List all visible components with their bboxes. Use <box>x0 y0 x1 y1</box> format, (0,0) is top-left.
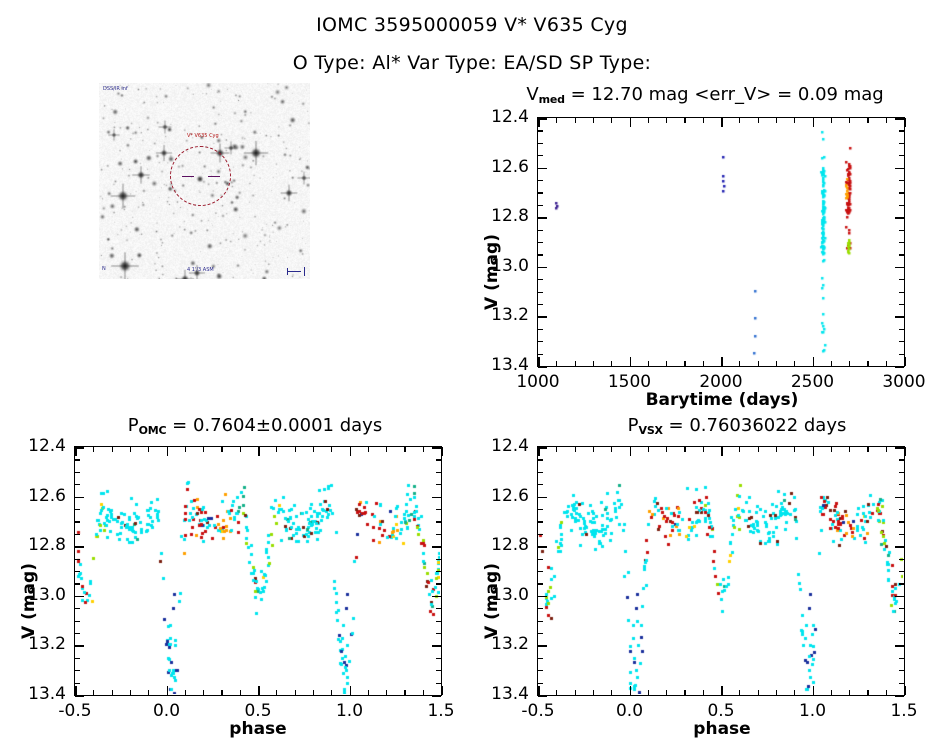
phase-vsx-ytick-right-0 <box>895 447 904 449</box>
phase-omc-xtick-major-1 <box>167 686 169 695</box>
timeseries-ytick-minor <box>538 230 543 231</box>
timeseries-xtick-top-3 <box>813 118 815 127</box>
phase-vsx-xlabel-3: 1.0 <box>768 701 858 721</box>
timeseries-ytick-right-2 <box>895 217 904 219</box>
phase-omc-ytick-minor <box>75 608 80 609</box>
phase-vsx-ytick-minor-right <box>899 608 904 609</box>
phase-vsx-xtick-minor <box>648 690 649 695</box>
phase-vsx-ytick-minor <box>538 670 543 671</box>
timeseries-xtick-major-0 <box>538 357 540 366</box>
timeseries-xtick-minor-top <box>776 118 777 123</box>
phase-vsx-ylabel-5: 13.4 <box>469 684 529 704</box>
phase-omc-ytick-minor-right <box>436 633 441 634</box>
phase-omc-xlabel-0: -0.5 <box>30 701 120 721</box>
phase-omc-xtick-minor-top <box>404 447 405 452</box>
phase-vsx-xtick-minor-top <box>593 447 594 452</box>
timeseries-xtick-minor <box>776 361 777 366</box>
timeseries-ytick-minor <box>538 254 543 255</box>
phase-vsx-ytick-right-2 <box>895 546 904 548</box>
phase-omc-xtick-minor <box>112 690 113 695</box>
phase-vsx-ytick-major-3 <box>538 596 547 598</box>
phase-omc-ylabel-0: 12.4 <box>6 436 66 456</box>
phase-omc-title-rest: = 0.7604±0.0001 days <box>166 415 382 436</box>
phase-vsx-xtick-minor-top <box>739 447 740 452</box>
phase-omc-xtick-minor-top <box>185 447 186 452</box>
timeseries-xtick-minor <box>593 361 594 366</box>
phase-omc-xtick-minor-top <box>93 447 94 452</box>
finder-survey-label: DSS/IR inf <box>103 86 128 92</box>
phase-vsx-xtick-minor <box>666 690 667 695</box>
phase-vsx-xtick-minor-top <box>684 447 685 452</box>
phase-omc-xtick-minor-top <box>331 447 332 452</box>
phase-omc-ylabel-4: 13.2 <box>6 634 66 654</box>
phase-omc-xtick-minor <box>423 690 424 695</box>
phase-vsx-xaxis-title: phase <box>597 719 847 739</box>
phase-omc-xtick-major-3 <box>350 686 352 695</box>
phase-vsx-xtick-minor <box>703 690 704 695</box>
timeseries-ytick-minor-right <box>899 130 904 131</box>
phase-vsx-ylabel-1: 12.6 <box>469 486 529 506</box>
phase-omc-ytick-minor-right <box>436 658 441 659</box>
timeseries-xtick-minor <box>849 361 850 366</box>
timeseries-xtick-minor-top <box>794 118 795 123</box>
timeseries-xtick-minor-top <box>666 118 667 123</box>
phase-vsx-ytick-minor <box>538 633 543 634</box>
timeseries-xtick-minor-top <box>684 118 685 123</box>
phase-omc-title-subscript: OMC <box>139 424 167 437</box>
timeseries-ytick-minor <box>538 155 543 156</box>
timeseries-ytick-right-5 <box>895 366 904 368</box>
phase-omc-xlabel-2: 0.5 <box>213 701 303 721</box>
phase-vsx-xtick-minor <box>867 690 868 695</box>
phase-vsx-ytick-major-1 <box>538 497 547 499</box>
phase-vsx-xtick-minor <box>556 690 557 695</box>
phase-vsx-xtick-major-1 <box>630 686 632 695</box>
vmed-rest: = 12.70 mag <err_V> = 0.09 mag <box>565 84 884 105</box>
phase-omc-plot <box>74 446 442 696</box>
timeseries-ytick-minor-right <box>899 279 904 280</box>
phase-omc-xlabel-3: 1.0 <box>305 701 395 721</box>
phase-omc-ytick-minor <box>75 459 80 460</box>
phase-omc-ytick-major-4 <box>75 645 84 647</box>
phase-vsx-ytick-minor-right <box>899 683 904 684</box>
phase-vsx-ytick-minor <box>538 621 543 622</box>
timeseries-ytick-minor <box>538 192 543 193</box>
phase-omc-ytick-minor <box>75 621 80 622</box>
timeseries-xtick-minor <box>648 361 649 366</box>
phase-omc-title-label: P <box>128 415 139 436</box>
phase-vsx-ytick-minor-right <box>899 459 904 460</box>
phase-vsx-xtick-minor-top <box>556 447 557 452</box>
phase-omc-ytick-minor <box>75 559 80 560</box>
timeseries-ytick-minor-right <box>899 192 904 193</box>
timeseries-xtick-minor-top <box>886 118 887 123</box>
phase-omc-ytick-minor-right <box>436 472 441 473</box>
phase-vsx-xtick-minor <box>794 690 795 695</box>
phase-omc-ytick-right-5 <box>432 695 441 697</box>
timeseries-plot <box>537 117 905 367</box>
phase-vsx-ytick-minor-right <box>899 571 904 572</box>
phase-vsx-ytick-minor-right <box>899 658 904 659</box>
phase-omc-ytick-minor <box>75 509 80 510</box>
phase-omc-ytick-major-0 <box>75 447 84 449</box>
phase-vsx-title-rest: = 0.76036022 days <box>663 415 847 436</box>
phase-vsx-xtick-minor-top <box>666 447 667 452</box>
phase-vsx-plot <box>537 446 905 696</box>
phase-omc-ytick-minor <box>75 571 80 572</box>
phase-omc-xtick-minor <box>93 690 94 695</box>
timeseries-xtick-minor <box>794 361 795 366</box>
phase-vsx-xtick-major-0 <box>538 686 540 695</box>
phase-omc-ytick-right-2 <box>432 546 441 548</box>
phase-omc-xtick-major-4 <box>441 686 443 695</box>
phase-omc-ytick-minor-right <box>436 583 441 584</box>
timeseries-ytick-minor <box>538 292 543 293</box>
finder-scale-label: 4 1'/3 ASM <box>187 267 214 273</box>
phase-vsx-title-subscript: VSX <box>639 424 663 437</box>
timeseries-ytick-right-0 <box>895 118 904 120</box>
phase-vsx-xlabel-2: 0.5 <box>676 701 766 721</box>
timeseries-xtick-minor <box>575 361 576 366</box>
timeseries-ytick-major-4 <box>538 316 547 318</box>
phase-omc-ytick-major-5 <box>75 695 84 697</box>
phase-vsx-ytick-minor-right <box>899 670 904 671</box>
timeseries-ytick-minor-right <box>899 354 904 355</box>
timeseries-xlabel-3: 2500 <box>768 372 858 392</box>
timeseries-xtick-minor-top <box>739 118 740 123</box>
vmed-subscript: med <box>539 93 565 106</box>
phase-vsx-ytick-minor-right <box>899 621 904 622</box>
timeseries-ytick-minor <box>538 130 543 131</box>
phase-omc-xtick-minor-top <box>221 447 222 452</box>
phase-vsx-ytick-minor <box>538 534 543 535</box>
phase-omc-xtick-minor <box>386 690 387 695</box>
phase-vsx-xtick-major-3 <box>813 686 815 695</box>
phase-vsx-ytick-right-3 <box>895 596 904 598</box>
phase-omc-xtick-minor-top <box>203 447 204 452</box>
phase-omc-xtick-minor <box>130 690 131 695</box>
target-crosshair-right <box>208 176 220 178</box>
phase-omc-ytick-minor <box>75 472 80 473</box>
phase-vsx-ytick-right-1 <box>895 497 904 499</box>
phase-omc-xtick-top-1 <box>167 447 169 456</box>
phase-vsx-xtick-minor <box>575 690 576 695</box>
phase-omc-xtick-minor <box>240 690 241 695</box>
phase-vsx-title: PVSX = 0.76036022 days <box>537 415 937 437</box>
phase-vsx-xtick-minor-top <box>758 447 759 452</box>
phase-omc-xtick-major-2 <box>258 686 260 695</box>
phase-vsx-ytick-minor-right <box>899 521 904 522</box>
timeseries-ytick-minor <box>538 205 543 206</box>
timeseries-xtick-minor-top <box>575 118 576 123</box>
timeseries-xtick-minor-top <box>611 118 612 123</box>
phase-omc-ytick-minor <box>75 534 80 535</box>
target-circle <box>170 146 231 206</box>
phase-vsx-xtick-minor <box>593 690 594 695</box>
phase-vsx-ytick-minor-right <box>899 534 904 535</box>
phase-omc-title: POMC = 0.7604±0.0001 days <box>55 415 455 437</box>
phase-vsx-xtick-minor-top <box>575 447 576 452</box>
timeseries-ytick-minor <box>538 341 543 342</box>
phase-omc-xtick-top-2 <box>258 447 260 456</box>
phase-vsx-xtick-minor <box>831 690 832 695</box>
phase-vsx-ytick-minor-right <box>899 559 904 560</box>
phase-omc-xtick-minor <box>148 690 149 695</box>
phase-vsx-ytick-right-5 <box>895 695 904 697</box>
timeseries-xtick-minor <box>611 361 612 366</box>
phase-omc-ytick-right-4 <box>432 645 441 647</box>
phase-vsx-xtick-top-1 <box>630 447 632 456</box>
phase-omc-xtick-minor <box>295 690 296 695</box>
phase-vsx-xtick-minor <box>776 690 777 695</box>
phase-vsx-xlabel-0: -0.5 <box>493 701 583 721</box>
finder-orientation-label: N <box>102 266 106 272</box>
finder-object-label: V* V635 Cyg <box>187 133 219 139</box>
phase-omc-xtick-minor-top <box>313 447 314 452</box>
vmed-stats-line: Vmed = 12.70 mag <err_V> = 0.09 mag <box>470 84 940 106</box>
phase-omc-ytick-minor <box>75 683 80 684</box>
phase-vsx-ytick-major-0 <box>538 447 547 449</box>
phase-vsx-xtick-minor-top <box>867 447 868 452</box>
phase-vsx-xtick-top-4 <box>904 447 906 456</box>
phase-omc-ytick-minor <box>75 633 80 634</box>
phase-omc-xtick-minor-top <box>240 447 241 452</box>
phase-vsx-xtick-minor-top <box>776 447 777 452</box>
finder-chart: DSS/IR inf V* V635 Cyg N 4 1'/3 ASM <box>99 83 310 279</box>
phase-omc-xtick-minor <box>331 690 332 695</box>
phase-vsx-xtick-minor-top <box>849 447 850 452</box>
phase-vsx-ytick-major-2 <box>538 546 547 548</box>
phase-omc-xtick-minor <box>276 690 277 695</box>
timeseries-ytick-major-5 <box>538 366 547 368</box>
phase-vsx-ytick-right-4 <box>895 645 904 647</box>
phase-vsx-ytick-major-4 <box>538 645 547 647</box>
phase-vsx-ytick-minor-right <box>899 472 904 473</box>
timeseries-ytick-minor <box>538 180 543 181</box>
phase-omc-ytick-minor <box>75 521 80 522</box>
phase-omc-xlabel-1: 0.0 <box>122 701 212 721</box>
phase-vsx-xtick-minor-top <box>886 447 887 452</box>
target-crosshair-left <box>182 176 194 178</box>
timeseries-ytick-minor <box>538 329 543 330</box>
phase-omc-xtick-top-3 <box>350 447 352 456</box>
timeseries-ytick-minor <box>538 242 543 243</box>
timeseries-xlabel-0: 1000 <box>493 372 583 392</box>
timeseries-xtick-minor <box>886 361 887 366</box>
phase-vsx-ytick-minor <box>538 459 543 460</box>
timeseries-xtick-minor <box>666 361 667 366</box>
phase-omc-ytick-minor <box>75 583 80 584</box>
timeseries-xtick-top-2 <box>721 118 723 127</box>
phase-omc-ytick-minor-right <box>436 670 441 671</box>
timeseries-xtick-minor-top <box>703 118 704 123</box>
timeseries-xtick-minor <box>758 361 759 366</box>
phase-omc-xtick-minor-top <box>276 447 277 452</box>
phase-omc-ytick-minor <box>75 484 80 485</box>
phase-vsx-ytick-minor <box>538 608 543 609</box>
phase-omc-ytick-right-1 <box>432 497 441 499</box>
timeseries-ylabel-3: 13.0 <box>469 256 529 276</box>
timeseries-xtick-minor-top <box>831 118 832 123</box>
phase-vsx-ytick-minor <box>538 521 543 522</box>
timeseries-xtick-minor-top <box>648 118 649 123</box>
phase-omc-ytick-minor-right <box>436 534 441 535</box>
phase-omc-xtick-minor <box>404 690 405 695</box>
page-title: IOMC 3595000059 V* V635 Cyg <box>0 14 944 36</box>
phase-vsx-xtick-minor <box>849 690 850 695</box>
phase-vsx-ylabel-0: 12.4 <box>469 436 529 456</box>
phase-vsx-xtick-minor <box>758 690 759 695</box>
phase-omc-ytick-right-0 <box>432 447 441 449</box>
phase-vsx-ytick-minor <box>538 658 543 659</box>
timeseries-ytick-right-4 <box>895 316 904 318</box>
phase-vsx-ytick-minor-right <box>899 633 904 634</box>
timeseries-ytick-minor-right <box>899 304 904 305</box>
phase-vsx-ytick-minor <box>538 484 543 485</box>
phase-vsx-ytick-minor-right <box>899 583 904 584</box>
timeseries-canvas <box>538 118 903 365</box>
phase-omc-ytick-minor-right <box>436 621 441 622</box>
timeseries-xtick-minor-top <box>849 118 850 123</box>
timeseries-ytick-minor <box>538 304 543 305</box>
phase-omc-ytick-minor-right <box>436 521 441 522</box>
timeseries-ytick-major-3 <box>538 267 547 269</box>
timeseries-ytick-minor <box>538 279 543 280</box>
phase-omc-ytick-minor-right <box>436 509 441 510</box>
timeseries-ylabel-4: 13.2 <box>469 305 529 325</box>
phase-omc-ytick-minor <box>75 658 80 659</box>
phase-omc-xtick-major-0 <box>75 686 77 695</box>
phase-omc-ytick-major-2 <box>75 546 84 548</box>
phase-omc-xlabel-4: 1.5 <box>396 701 486 721</box>
phase-vsx-xtick-minor-top <box>611 447 612 452</box>
vmed-label: V <box>526 84 538 105</box>
phase-omc-xtick-minor-top <box>130 447 131 452</box>
phase-vsx-ylabel-2: 12.8 <box>469 535 529 555</box>
timeseries-xtick-minor-top <box>867 118 868 123</box>
timeseries-ylabel-1: 12.6 <box>469 157 529 177</box>
phase-omc-canvas <box>75 447 440 694</box>
timeseries-ytick-major-2 <box>538 217 547 219</box>
phase-vsx-xtick-minor-top <box>648 447 649 452</box>
timeseries-ytick-minor-right <box>899 292 904 293</box>
phase-omc-xtick-minor-top <box>112 447 113 452</box>
timeseries-xtick-top-4 <box>904 118 906 127</box>
phase-omc-ytick-major-3 <box>75 596 84 598</box>
phase-vsx-ylabel-3: 13.0 <box>469 585 529 605</box>
phase-vsx-ytick-minor-right <box>899 509 904 510</box>
timeseries-ytick-minor <box>538 143 543 144</box>
phase-omc-xtick-minor <box>313 690 314 695</box>
phase-omc-xtick-minor-top <box>295 447 296 452</box>
timeseries-ytick-right-3 <box>895 267 904 269</box>
phase-vsx-ytick-major-5 <box>538 695 547 697</box>
timeseries-ytick-minor-right <box>899 254 904 255</box>
phase-vsx-ytick-minor <box>538 683 543 684</box>
phase-omc-ytick-minor <box>75 670 80 671</box>
timeseries-ytick-minor-right <box>899 155 904 156</box>
phase-vsx-xtick-top-3 <box>813 447 815 456</box>
phase-vsx-ytick-minor <box>538 571 543 572</box>
timeseries-ytick-minor-right <box>899 143 904 144</box>
phase-omc-ytick-major-1 <box>75 497 84 499</box>
phase-omc-ytick-minor-right <box>436 683 441 684</box>
timeseries-xtick-major-1 <box>630 357 632 366</box>
phase-vsx-ytick-minor <box>538 472 543 473</box>
phase-omc-ytick-minor-right <box>436 571 441 572</box>
timeseries-ytick-minor-right <box>899 180 904 181</box>
phase-vsx-xtick-minor-top <box>794 447 795 452</box>
timeseries-ytick-minor-right <box>899 329 904 330</box>
phase-omc-xtick-minor-top <box>386 447 387 452</box>
phase-omc-ytick-minor-right <box>436 608 441 609</box>
timeseries-ytick-major-0 <box>538 118 547 120</box>
phase-omc-ytick-minor-right <box>436 559 441 560</box>
phase-vsx-xtick-major-4 <box>904 686 906 695</box>
phase-omc-xtick-minor <box>203 690 204 695</box>
timeseries-xlabel-2: 2000 <box>676 372 766 392</box>
timeseries-ylabel-2: 12.8 <box>469 206 529 226</box>
timeseries-xtick-minor <box>831 361 832 366</box>
phase-vsx-canvas <box>538 447 903 694</box>
timeseries-xtick-major-2 <box>721 357 723 366</box>
phase-omc-xtick-minor <box>368 690 369 695</box>
phase-vsx-xtick-major-2 <box>721 686 723 695</box>
timeseries-ytick-minor <box>538 354 543 355</box>
timeseries-xtick-minor <box>739 361 740 366</box>
timeseries-xtick-top-1 <box>630 118 632 127</box>
phase-omc-ylabel-5: 13.4 <box>6 684 66 704</box>
timeseries-xtick-minor <box>556 361 557 366</box>
phase-omc-ylabel-1: 12.6 <box>6 486 66 506</box>
timeseries-ylabel-0: 12.4 <box>469 107 529 127</box>
timeseries-xtick-minor-top <box>758 118 759 123</box>
phase-vsx-xtick-top-2 <box>721 447 723 456</box>
phase-vsx-xtick-minor-top <box>831 447 832 452</box>
phase-omc-ytick-minor-right <box>436 484 441 485</box>
timeseries-ytick-right-1 <box>895 168 904 170</box>
phase-vsx-xtick-minor <box>611 690 612 695</box>
phase-vsx-ytick-minor-right <box>899 484 904 485</box>
timeseries-ytick-major-1 <box>538 168 547 170</box>
timeseries-xtick-major-4 <box>904 357 906 366</box>
phase-omc-xtick-top-4 <box>441 447 443 456</box>
phase-vsx-ylabel-4: 13.2 <box>469 634 529 654</box>
phase-vsx-ytick-minor <box>538 583 543 584</box>
phase-vsx-xtick-minor <box>886 690 887 695</box>
phase-omc-xtick-minor <box>185 690 186 695</box>
phase-omc-ylabel-3: 13.0 <box>6 585 66 605</box>
timeseries-xaxis-title: Barytime (days) <box>597 390 847 410</box>
timeseries-xtick-major-3 <box>813 357 815 366</box>
phase-omc-xtick-minor-top <box>368 447 369 452</box>
phase-vsx-ytick-minor <box>538 509 543 510</box>
phase-vsx-xtick-minor <box>739 690 740 695</box>
phase-omc-ytick-right-3 <box>432 596 441 598</box>
timeseries-xtick-minor <box>703 361 704 366</box>
timeseries-xtick-minor-top <box>593 118 594 123</box>
timeseries-xlabel-1: 1500 <box>585 372 675 392</box>
phase-vsx-xtick-minor <box>684 690 685 695</box>
object-types-line: O Type: Al* Var Type: EA/SD SP Type: <box>0 52 944 74</box>
timeseries-ytick-minor-right <box>899 205 904 206</box>
phase-omc-ytick-minor-right <box>436 459 441 460</box>
timeseries-xlabel-4: 3000 <box>859 372 944 392</box>
phase-vsx-title-label: P <box>628 415 639 436</box>
phase-vsx-xlabel-4: 1.5 <box>859 701 944 721</box>
phase-omc-xaxis-title: phase <box>133 719 383 739</box>
finder-scalebar <box>287 267 307 275</box>
